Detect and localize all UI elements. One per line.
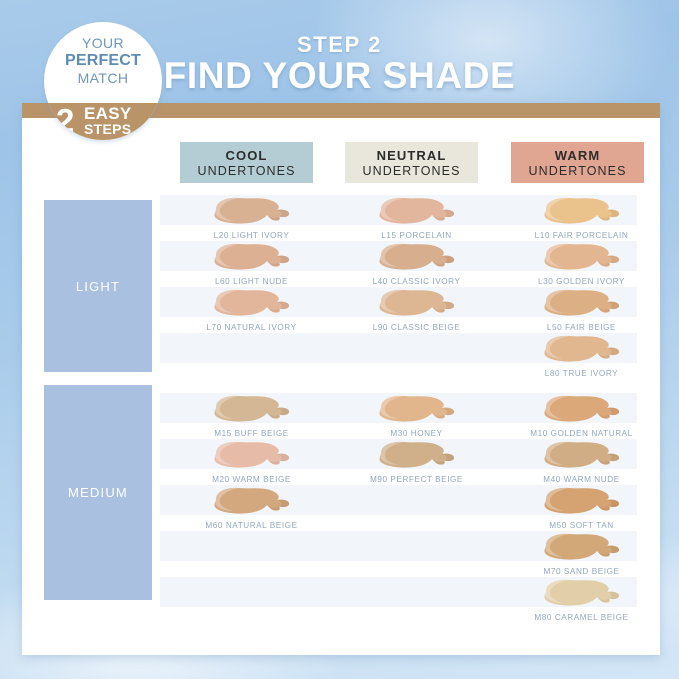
shade-cell[interactable]: L15 PORCELAIN [350,195,483,240]
badge-steps-label: STEPS [84,122,132,136]
shade-cell[interactable]: L90 CLASSIC BEIGE [350,287,483,332]
foundation-smear-icon [374,393,460,427]
column-header-neutral: NEUTRAL UNDERTONES [345,142,478,183]
shade-label: L80 TRUE IVORY [515,369,648,378]
shade-cell[interactable]: L60 LIGHT NUDE [185,241,318,286]
column-header-cool-title: COOL [180,148,313,163]
foundation-smear-icon [374,195,460,229]
shade-label: M30 HONEY [350,429,483,438]
column-header-warm: WARM UNDERTONES [511,142,644,183]
foundation-smear-icon [539,531,625,565]
shade-label: M60 NATURAL BEIGE [185,521,318,530]
shade-label: M15 BUFF BEIGE [185,429,318,438]
foundation-smear-icon [539,333,625,367]
shade-label: L15 PORCELAIN [350,231,483,240]
shade-cell[interactable]: M10 GOLDEN NATURAL [515,393,648,438]
shade-label: L40 CLASSIC IVORY [350,277,483,286]
badge-steps-text: EASY STEPS [84,105,132,137]
shade-cell[interactable]: L40 CLASSIC IVORY [350,241,483,286]
foundation-smear-icon [539,195,625,229]
shade-cell[interactable]: M70 SAND BEIGE [515,531,648,576]
shade-label: M90 PERFECT BEIGE [350,475,483,484]
perfect-match-badge: YOUR PERFECT MATCH 2 EASY STEPS [44,22,162,140]
column-header-warm-subtitle: UNDERTONES [511,164,644,178]
foundation-smear-icon [539,577,625,611]
shade-cell[interactable]: L50 FAIR BEIGE [515,287,648,332]
shade-label: L10 FAIR PORCELAIN [515,231,648,240]
shade-cell[interactable]: M40 WARM NUDE [515,439,648,484]
badge-easy-label: EASY [84,105,132,122]
column-header-cool-subtitle: UNDERTONES [180,164,313,178]
shade-label: M70 SAND BEIGE [515,567,648,576]
tone-group-light: LIGHT [44,200,152,372]
shade-label: L20 LIGHT IVORY [185,231,318,240]
shade-cell[interactable]: L20 LIGHT IVORY [185,195,318,240]
shade-cell[interactable]: M80 CARAMEL BEIGE [515,577,648,622]
foundation-smear-icon [209,439,295,473]
foundation-smear-icon [374,439,460,473]
shade-grid: L20 LIGHT IVORYL60 LIGHT NUDEL70 NATURAL… [160,195,637,615]
shade-cell[interactable]: L30 GOLDEN IVORY [515,241,648,286]
column-header-neutral-title: NEUTRAL [345,148,478,163]
foundation-smear-icon [539,485,625,519]
shade-label: L70 NATURAL IVORY [185,323,318,332]
shade-cell[interactable]: M50 SOFT TAN [515,485,648,530]
foundation-smear-icon [374,241,460,275]
shade-label: M80 CARAMEL BEIGE [515,613,648,622]
badge-line-1: YOUR [44,35,162,52]
foundation-smear-icon [539,393,625,427]
foundation-smear-icon [209,485,295,519]
foundation-smear-icon [374,287,460,321]
column-header-cool: COOL UNDERTONES [180,142,313,183]
tone-group-medium-label: MEDIUM [68,485,128,500]
shade-label: L90 CLASSIC BEIGE [350,323,483,332]
shade-cell[interactable]: L10 FAIR PORCELAIN [515,195,648,240]
shade-cell[interactable]: M15 BUFF BEIGE [185,393,318,438]
shade-label: M40 WARM NUDE [515,475,648,484]
tone-group-light-label: LIGHT [76,279,120,294]
foundation-smear-icon [209,287,295,321]
tone-group-medium: MEDIUM [44,385,152,600]
column-header-warm-title: WARM [511,148,644,163]
foundation-smear-icon [209,195,295,229]
column-header-neutral-subtitle: UNDERTONES [345,164,478,178]
shade-label: L30 GOLDEN IVORY [515,277,648,286]
shade-label: L60 LIGHT NUDE [185,277,318,286]
shade-cell[interactable]: L70 NATURAL IVORY [185,287,318,332]
foundation-smear-icon [209,393,295,427]
shade-cell[interactable]: M90 PERFECT BEIGE [350,439,483,484]
shade-label: M50 SOFT TAN [515,521,648,530]
badge-line-2: PERFECT [44,52,162,71]
shade-label: M10 GOLDEN NATURAL [515,429,648,438]
shade-label: M20 WARM BEIGE [185,475,318,484]
shade-cell[interactable]: M20 WARM BEIGE [185,439,318,484]
badge-step-number: 2 [56,104,74,137]
foundation-smear-icon [539,439,625,473]
shade-cell[interactable]: L80 TRUE IVORY [515,333,648,378]
shade-label: L50 FAIR BEIGE [515,323,648,332]
badge-heading: YOUR PERFECT MATCH [44,35,162,87]
badge-line-3: MATCH [44,70,162,87]
shade-cell[interactable]: M60 NATURAL BEIGE [185,485,318,530]
foundation-smear-icon [539,287,625,321]
foundation-smear-icon [539,241,625,275]
foundation-smear-icon [209,241,295,275]
shade-cell[interactable]: M30 HONEY [350,393,483,438]
